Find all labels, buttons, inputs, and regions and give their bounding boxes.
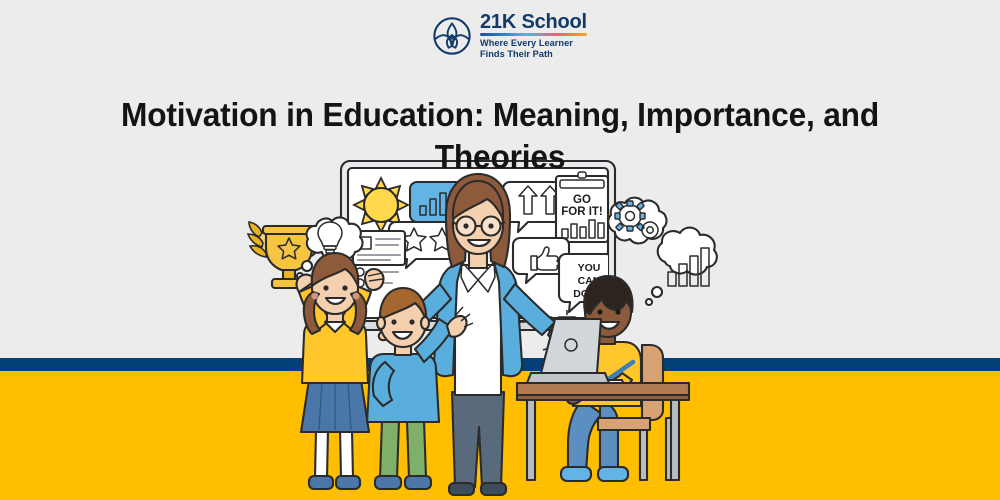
logo-text-block: 21K School Where Every Learner Finds The… — [480, 12, 587, 60]
gears-thought-bubble — [608, 198, 666, 244]
logo-name: 21K School — [480, 12, 587, 32]
classroom-motivation-illustration: .ol{stroke:#2b2b2b;stroke-width:2.1;stro… — [0, 0, 1000, 500]
clipboard-poster: GO FOR IT! — [556, 172, 608, 242]
brand-logo[interactable]: 21K School Where Every Learner Finds The… — [431, 12, 587, 60]
logo-gradient-rule — [480, 33, 587, 36]
logo-tagline-line2: Finds Their Path — [480, 49, 553, 59]
logo-tagline: Where Every Learner Finds Their Path — [480, 38, 587, 60]
lotus-circle-logo-icon — [431, 15, 473, 57]
banner-root: 21K School Where Every Learner Finds The… — [0, 0, 1000, 500]
logo-tagline-line1: Where Every Learner — [480, 38, 573, 48]
encouragement-line1: YOU — [578, 262, 601, 274]
poster-line1: GO — [573, 194, 591, 206]
page-title: Motivation in Education: Meaning, Import… — [87, 94, 913, 178]
poster-line2: FOR IT! — [561, 206, 603, 218]
